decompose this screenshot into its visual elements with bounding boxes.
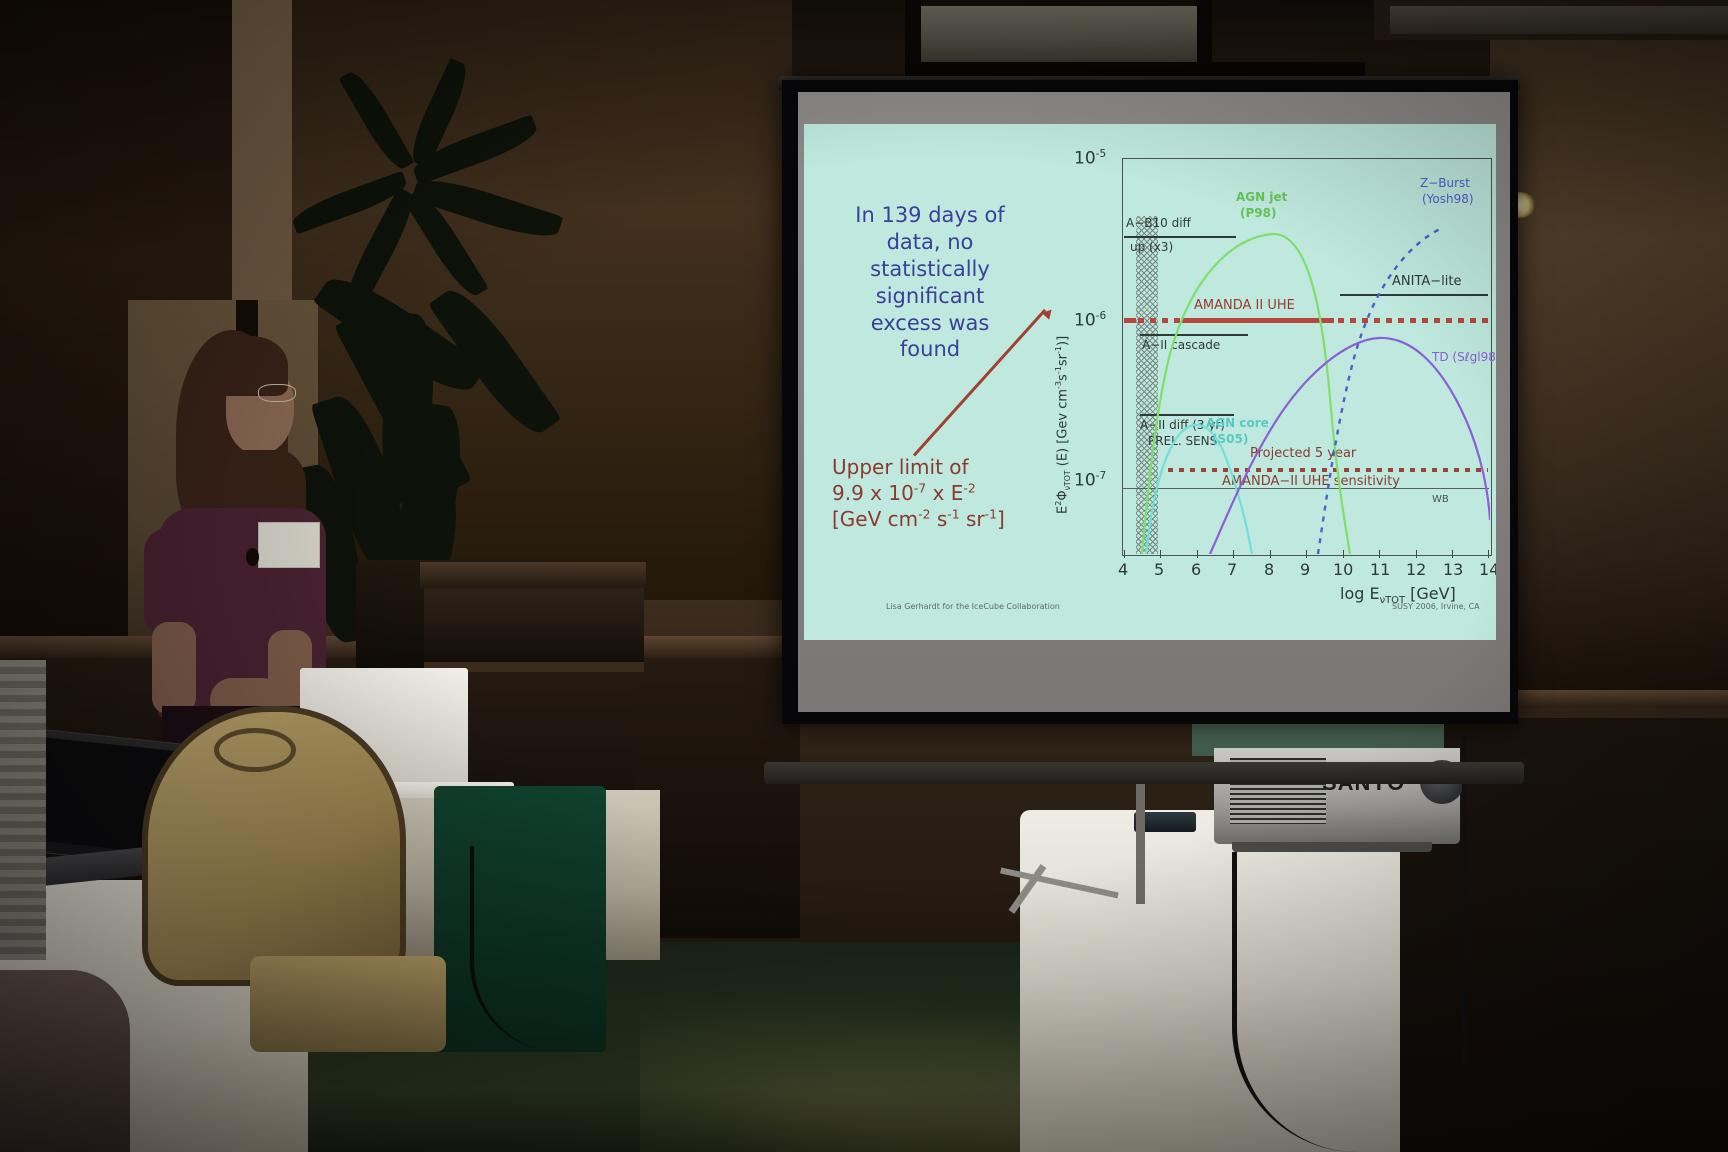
slide-footer-right: SUSY 2006, Irvine, CA (1392, 602, 1480, 611)
xlabel-post: [GeV] (1405, 584, 1456, 603)
ytick-mantissa: 10 (1074, 471, 1096, 491)
slide-body-line: In 139 days of (822, 202, 1038, 229)
ylab-post: (E) [Gev cm (1055, 389, 1070, 470)
limit-units-end: ] (997, 507, 1005, 531)
podium-top (420, 562, 646, 588)
y-axis-label: E2ΦνTOT (E) [Gev cm-3s-1sr-1)] (1054, 336, 1072, 514)
y-tick-label-1e-7: 10-7 (1074, 470, 1106, 491)
wall-right-upper (1490, 40, 1728, 700)
limit-units-exp-3: -1 (985, 506, 997, 521)
ytick-exp: -6 (1096, 310, 1107, 322)
x-tick-label: 5 (1154, 560, 1164, 579)
slide-upper-limit-text: Upper limit of 9.9 x 10-7 x E-2 [GeV cm-… (832, 454, 1062, 532)
limit-exp-1: -7 (914, 480, 926, 495)
ytick-exp: -7 (1096, 470, 1107, 482)
speaker-name-badge (258, 522, 320, 568)
speaker-glasses (258, 384, 296, 402)
x-tick (1160, 550, 1161, 558)
chair-seat (250, 956, 446, 1052)
ytick-mantissa: 10 (1074, 149, 1096, 169)
agn-jet-curve (1142, 234, 1350, 554)
ytick-mantissa: 10 (1074, 311, 1096, 331)
x-tick (1416, 550, 1417, 558)
x-tick (1124, 550, 1125, 558)
x-tick (1343, 550, 1344, 558)
chair-handle (214, 728, 296, 772)
z-burst-ref-label: (Yosh98) (1422, 192, 1474, 206)
wb-label: WB (1432, 494, 1449, 505)
projector-foot (1232, 842, 1432, 852)
limit-units-exp-1: -2 (918, 506, 930, 521)
td-label: TD (Sℓgl98) (1432, 350, 1496, 364)
x-tick-label: 8 (1264, 560, 1274, 579)
z-burst-curve (1318, 228, 1442, 554)
chair (142, 706, 454, 1052)
ylab-phi: Φ (1055, 490, 1070, 500)
speaker-arm-left (144, 528, 198, 634)
slide-body-line: excess was (822, 310, 1038, 337)
wall-right-rail (1490, 690, 1728, 708)
foreground-person-arm (0, 970, 130, 1152)
x-tick (1197, 550, 1198, 558)
foreground-person-sleeve (0, 660, 46, 960)
x-tick-label: 9 (1300, 560, 1310, 579)
ylab-E: E (1055, 506, 1070, 514)
agn-jet-label: AGN jet (1236, 190, 1287, 204)
td-curve (1210, 338, 1490, 554)
screen-bottom-bar (764, 762, 1524, 784)
x-tick-label: 10 (1333, 560, 1353, 579)
z-burst-label: Z−Burst (1420, 176, 1470, 190)
slide-body-line: significant (822, 283, 1038, 310)
x-tick-label: 13 (1443, 560, 1463, 579)
projected-slide: In 139 days of data, no statistically si… (804, 124, 1496, 640)
x-tick-label: 7 (1227, 560, 1237, 579)
x-tick-label: 6 (1191, 560, 1201, 579)
limit-exp-2: -2 (963, 480, 975, 495)
agn-core-label: AGN core (1206, 416, 1269, 430)
speaker-forearm-left (152, 622, 196, 714)
flux-plot: E2ΦνTOT (E) [Gev cm-3s-1sr-1)] 10-5 10-6… (1040, 142, 1496, 612)
x-tick-label: 14 (1479, 560, 1496, 579)
ytick-exp: -5 (1096, 148, 1107, 160)
x-tick (1452, 550, 1453, 558)
limit-units-mid: s (930, 507, 947, 531)
upper-limit-line-3: [GeV cm-2 s-1 sr-1] (832, 506, 1062, 532)
x-tick (1270, 550, 1271, 558)
ceiling-glass-panel (921, 6, 1197, 62)
upper-limit-line-1: Upper limit of (832, 454, 1062, 480)
limit-mid: x E (926, 481, 963, 505)
x-tick (1488, 550, 1489, 558)
ylab-sub: νTOT (1063, 470, 1072, 490)
upper-limit-line-2: 9.9 x 10-7 x E-2 (832, 480, 1062, 506)
clip-microphone (246, 548, 259, 566)
photo-scene: SANYO In 139 days of data, no statistica… (0, 0, 1728, 1152)
limit-units-mid2: sr (960, 507, 985, 531)
agn-jet-ref-label: (P98) (1240, 206, 1276, 220)
limit-mantissa: 9.9 x 10 (832, 481, 914, 505)
podium-body (424, 588, 644, 662)
limit-units-exp-2: -1 (947, 506, 959, 521)
ylab-sup: 2 (1054, 501, 1063, 506)
slide-body-text: In 139 days of data, no statistically si… (822, 202, 1038, 363)
x-tick-label: 4 (1118, 560, 1128, 579)
slide-footer-left: Lisa Gerhardt for the IceCube Collaborat… (886, 602, 1060, 611)
ceiling-glass-right (1390, 6, 1728, 34)
x-tick (1379, 550, 1380, 558)
slide-body-line: statistically (822, 256, 1038, 283)
xlabel-pre: log E (1340, 584, 1380, 603)
x-tick (1233, 550, 1234, 558)
y-tick-label-1e-6: 10-6 (1074, 310, 1106, 331)
slide-body-line: data, no (822, 229, 1038, 256)
x-tick (1306, 550, 1307, 558)
limit-units-pre: [GeV cm (832, 507, 918, 531)
y-tick-label-1e-5: 10-5 (1074, 148, 1106, 169)
x-tick-label: 11 (1370, 560, 1390, 579)
agn-core-ref-label: (S05) (1212, 432, 1248, 446)
x-tick-label: 12 (1406, 560, 1426, 579)
screen-tripod-pole (1136, 784, 1145, 904)
